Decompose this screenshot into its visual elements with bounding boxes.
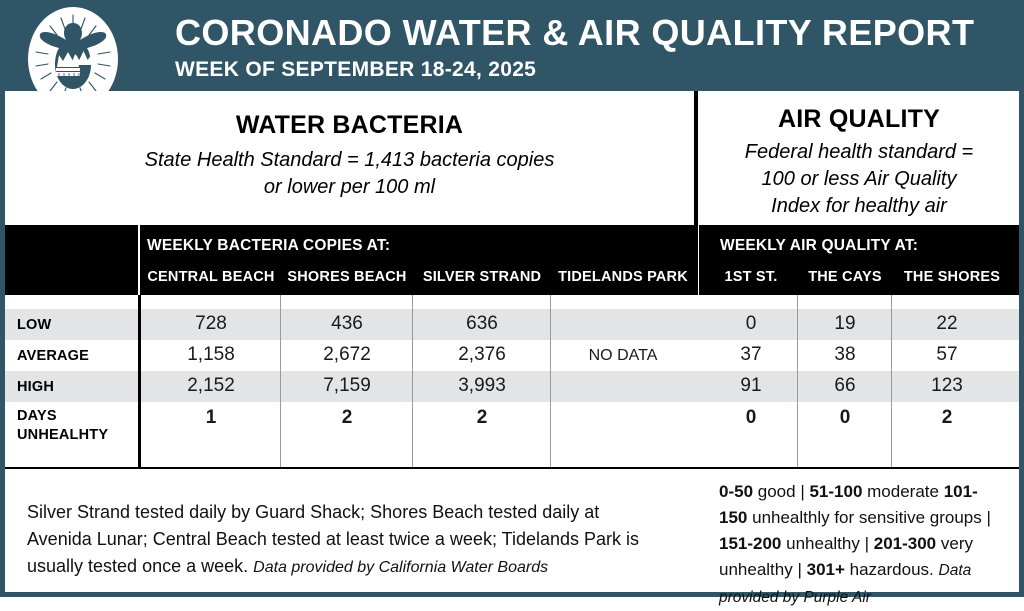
cell-average-silver-strand: 2,376 (414, 344, 550, 366)
header-sep-1 (138, 225, 140, 295)
aqi-range-301-plus: 301+ (807, 560, 845, 579)
cell-days-the-shores: 2 (893, 407, 1001, 429)
column-header-shores-beach: SHORES BEACH (282, 269, 412, 285)
cell-high-the-shores: 123 (893, 375, 1001, 397)
column-header-the-shores: THE SHORES (893, 269, 1011, 285)
page-title: CORONADO WATER & AIR QUALITY REPORT (175, 11, 974, 55)
cell-high-silver-strand: 3,993 (414, 375, 550, 397)
column-header-tidelands-park: TIDELANDS PARK (552, 269, 694, 285)
aqi-range-0-50: 0-50 (719, 482, 753, 501)
column-header-the-cays: THE CAYS (799, 269, 891, 285)
row-label-unhealhty: UNHEALHTY (17, 427, 108, 443)
cell-low-the-cays: 19 (799, 313, 891, 335)
grid-line-water-2 (412, 295, 413, 467)
report-card: CORONADO WATER & AIR QUALITY REPORT WEEK… (0, 0, 1024, 597)
cell-average-central-beach: 1,158 (141, 344, 281, 366)
cell-days-the-cays: 0 (799, 407, 891, 429)
row-label-days: DAYS (17, 408, 57, 424)
data-table: WEEKLY BACTERIA COPIES AT: CENTRAL BEACH… (5, 225, 1019, 467)
cell-average-the-cays: 38 (799, 344, 891, 366)
aqi-scale-note: 0-50 good | 51-100 moderate 101-150 unhe… (719, 479, 1004, 611)
air-group-header: WEEKLY AIR QUALITY AT: (720, 237, 918, 255)
cell-high-shores-beach: 7,159 (282, 375, 412, 397)
cell-low-shores-beach: 436 (282, 313, 412, 335)
cell-average-shores-beach: 2,672 (282, 344, 412, 366)
aqi-range-51-100: 51-100 (809, 482, 862, 501)
cell-average-1st-st: 37 (705, 344, 797, 366)
report-header: CORONADO WATER & AIR QUALITY REPORT WEEK… (5, 5, 1019, 91)
cell-days-silver-strand: 2 (414, 407, 550, 429)
aqi-label-good: good (758, 482, 796, 501)
grid-line-water-1 (280, 295, 281, 467)
aqi-range-151-200: 151-200 (719, 534, 781, 553)
grid-line-water-3 (550, 295, 551, 467)
air-section-heading: AIR QUALITY Federal health standard = 10… (699, 91, 1019, 221)
table-body: LOW 728 436 636 0 19 22 AVERAGE 1,158 2,… (5, 295, 1019, 467)
cell-low-1st-st: 0 (705, 313, 797, 335)
column-header-1st-st: 1ST ST. (705, 269, 797, 285)
aqi-label-sensitive: unhealthly for sensitive groups (752, 508, 982, 527)
cell-average-the-shores: 57 (893, 344, 1001, 366)
air-section-title: AIR QUALITY (699, 105, 1019, 134)
cell-days-shores-beach: 2 (282, 407, 412, 429)
section-title-band: WATER BACTERIA State Health Standard = 1… (5, 91, 1019, 221)
row-label-high: HIGH (17, 379, 54, 395)
header-title-group: CORONADO WATER & AIR QUALITY REPORT WEEK… (175, 11, 974, 83)
water-section-heading: WATER BACTERIA State Health Standard = 1… (5, 91, 694, 221)
aqi-label-moderate: moderate (867, 482, 939, 501)
column-header-silver-strand: SILVER STRAND (414, 269, 550, 285)
cell-low-the-shores: 22 (893, 313, 1001, 335)
column-header-central-beach: CENTRAL BEACH (141, 269, 281, 285)
row-label-average: AVERAGE (17, 348, 89, 364)
air-standard-line1: Federal health standard = (699, 139, 1019, 166)
water-footnote: Silver Strand tested daily by Guard Shac… (27, 499, 667, 581)
water-footnote-section: Silver Strand tested daily by Guard Shac… (5, 469, 694, 592)
water-standard-line1: State Health Standard = 1,413 bacteria c… (5, 147, 694, 174)
grid-line-row-labels (138, 295, 141, 467)
water-footnote-source: Data provided by California Water Boards (253, 559, 548, 576)
grid-line-air-1 (797, 295, 798, 467)
cell-high-1st-st: 91 (705, 375, 797, 397)
aqi-range-201-300: 201-300 (874, 534, 936, 553)
page-subtitle: WEEK OF SEPTEMBER 18-24, 2025 (175, 57, 974, 83)
table-header-row: WEEKLY BACTERIA COPIES AT: CENTRAL BEACH… (5, 225, 1019, 295)
cell-tidelands-park-no-data: NO DATA (552, 347, 694, 365)
cell-low-central-beach: 728 (141, 313, 281, 335)
cell-high-the-cays: 66 (799, 375, 891, 397)
cell-low-silver-strand: 636 (414, 313, 550, 335)
water-group-header: WEEKLY BACTERIA COPIES AT: (147, 237, 390, 255)
aqi-scale-section: 0-50 good | 51-100 moderate 101-150 unhe… (699, 469, 1019, 592)
cell-days-1st-st: 0 (705, 407, 797, 429)
cell-days-central-beach: 1 (141, 407, 281, 429)
aqi-label-unhealthy: unhealthy (786, 534, 860, 553)
aqi-label-hazardous: hazardous. (850, 560, 934, 579)
water-section-title: WATER BACTERIA (5, 111, 694, 140)
row-label-low: LOW (17, 317, 51, 333)
grid-line-air-2 (891, 295, 892, 467)
air-standard-line3: Index for healthy air (699, 193, 1019, 220)
cell-high-central-beach: 2,152 (141, 375, 281, 397)
water-standard-line2: or lower per 100 ml (5, 174, 694, 201)
air-standard-line2: 100 or less Air Quality (699, 166, 1019, 193)
